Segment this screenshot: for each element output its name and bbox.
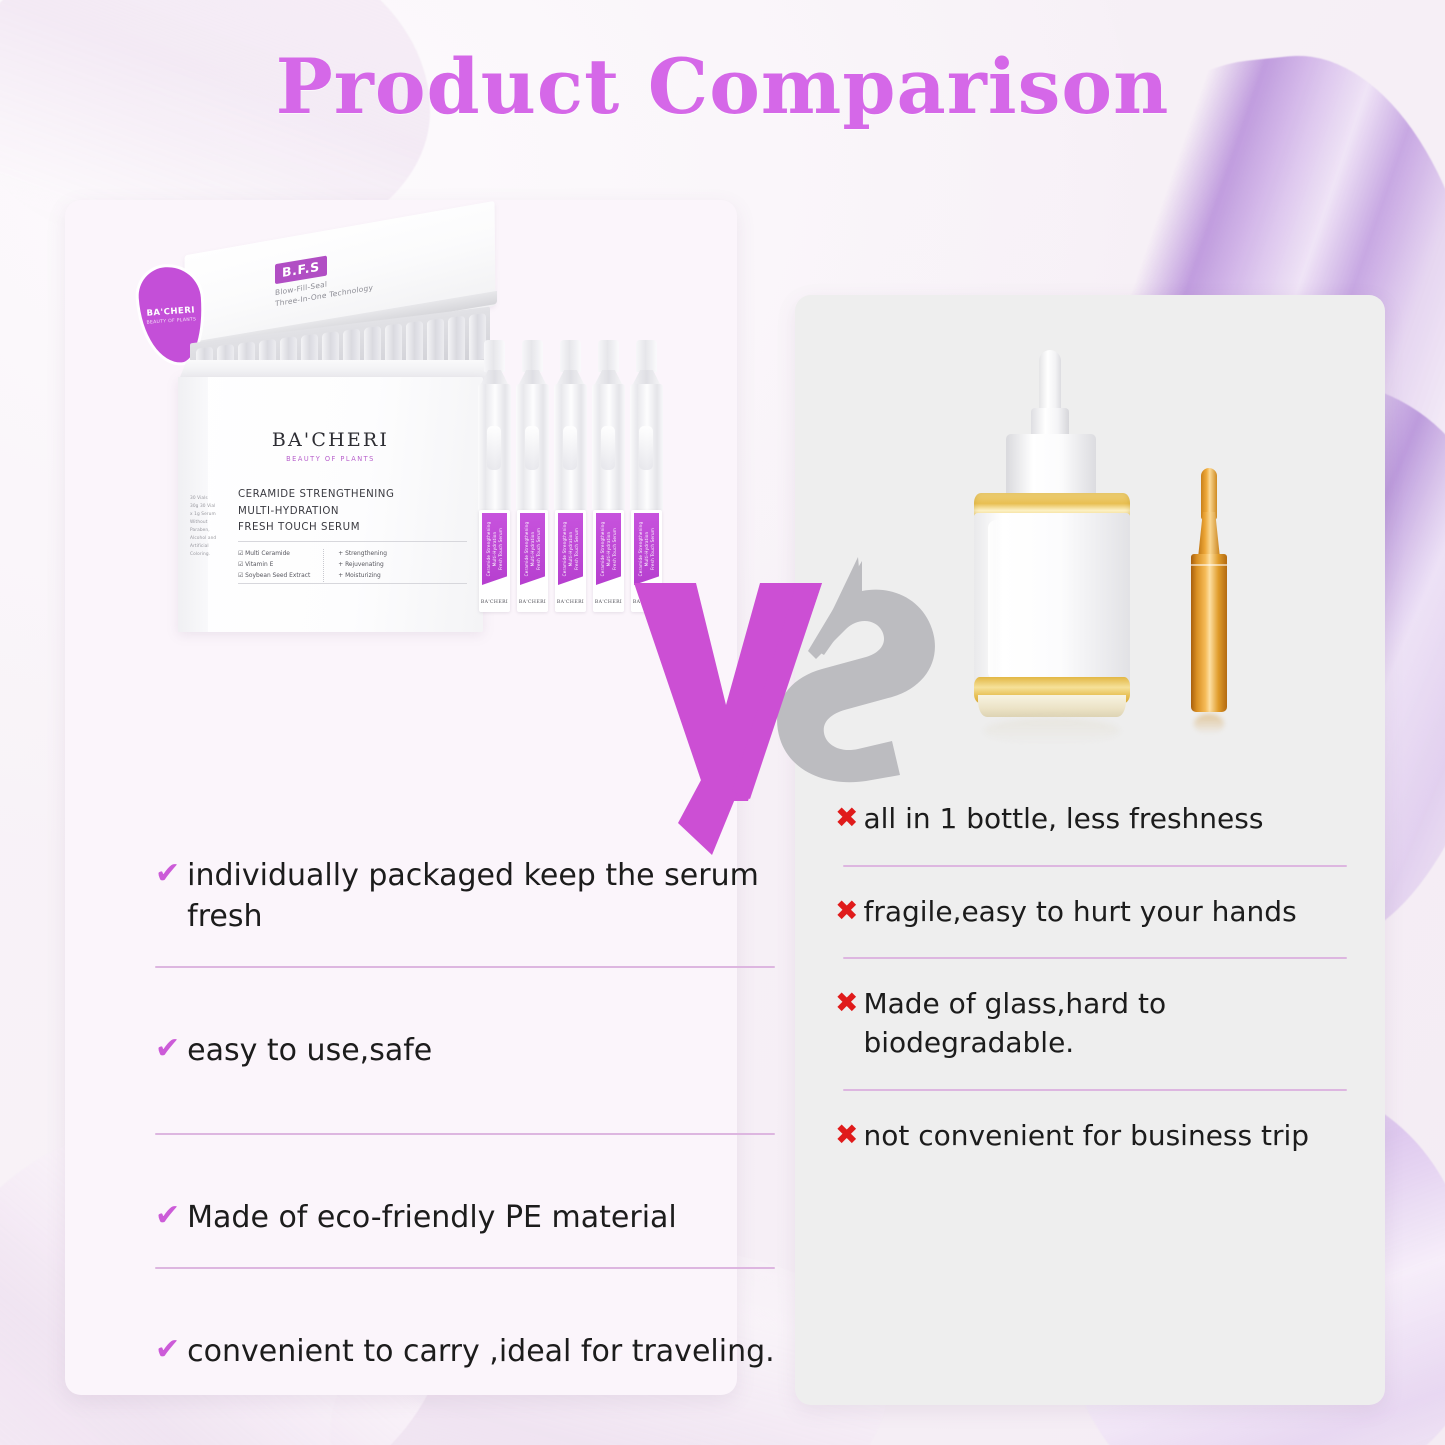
check-icon: ✔ [155,859,180,889]
box-rule-bottom [238,583,467,584]
pro-item: ✔ individually packaged keep the serum f… [145,855,785,938]
blob-brand-text: BA'CHERI [146,305,195,318]
con-item-label: Made of glass,hard to biodegradable. [863,985,1355,1062]
box-brand-tagline: BEAUTY OF PLANTS [178,455,483,463]
dropper-collar [1006,434,1096,500]
check-icon: ✔ [155,1335,180,1365]
pro-item-label: convenient to carry ,ideal for traveling… [187,1331,775,1372]
bottle-base [978,695,1126,717]
pros-list: ✔ individually packaged keep the serum f… [145,855,785,1372]
check-icon: ✔ [155,1201,180,1231]
box-benefits: + Strengthening+ Rejuvenating+ Moisturiz… [338,549,387,582]
blob-brand-tagline: BEAUTY OF PLANTS [146,317,196,325]
con-item: ✖ fragile,easy to hurt your hands [835,893,1355,932]
ampoule: Ceramide StrengtheningMulti-HydrationFre… [516,340,549,612]
box-brand: BA'CHERI [178,429,483,451]
amber-ampoule-fill-line [1191,564,1227,566]
infographic-canvas: Product Comparison B.F.S Blow-Fill-SealT… [0,0,1445,1445]
cross-icon: ✖ [835,989,858,1017]
list-divider [155,1133,775,1135]
page-title: Product Comparison [0,42,1445,131]
list-divider [155,1267,775,1269]
cross-icon: ✖ [835,1121,858,1149]
con-item: ✖ not convenient for business trip [835,1117,1355,1156]
list-divider [843,957,1347,959]
amber-ampoule-body [1191,554,1227,712]
con-item-label: fragile,easy to hurt your hands [863,893,1296,932]
con-item-label: not convenient for business trip [863,1117,1309,1156]
box-side-face: 30 Vials30g 30 Vialx 1g SerumWithoutPara… [178,377,208,632]
cross-icon: ✖ [835,897,858,925]
con-item: ✖ Made of glass,hard to biodegradable. [835,985,1355,1062]
box-feature-columns: ☑ Multi Ceramide☑ Vitamin E☑ Soybean See… [238,549,469,582]
bottle-reflection [984,718,1120,744]
pro-item-label: Made of eco-friendly PE material [187,1197,677,1238]
box-fine-print: 30 Vials30g 30 Vialx 1g SerumWithoutPara… [190,495,226,559]
box-ingredients: ☑ Multi Ceramide☑ Vitamin E☑ Soybean See… [238,549,324,582]
pro-item-label: easy to use,safe [187,1030,432,1071]
versus-badge [600,555,960,855]
list-divider [843,1089,1347,1091]
box-rule-top [238,541,467,542]
pro-item: ✔ easy to use,safe [145,1030,785,1071]
list-divider [843,865,1347,867]
amber-ampoule [1186,468,1232,718]
pro-item: ✔ convenient to carry ,ideal for traveli… [145,1331,785,1372]
check-icon: ✔ [155,1034,180,1064]
bottle-highlight [988,520,1004,680]
list-divider [155,966,775,968]
glass-bottle-image [940,350,1270,770]
amber-ampoule-reflection [1194,714,1224,734]
pro-item-label: individually packaged keep the serum fre… [187,855,785,938]
ampoule: Ceramide StrengtheningMulti-HydrationFre… [554,340,587,612]
pro-item: ✔ Made of eco-friendly PE material [145,1197,785,1238]
ampoule: Ceramide StrengtheningMulti-HydrationFre… [478,340,511,612]
box-product-name: CERAMIDE STRENGTHENINGMULTI-HYDRATIONFRE… [238,487,469,537]
